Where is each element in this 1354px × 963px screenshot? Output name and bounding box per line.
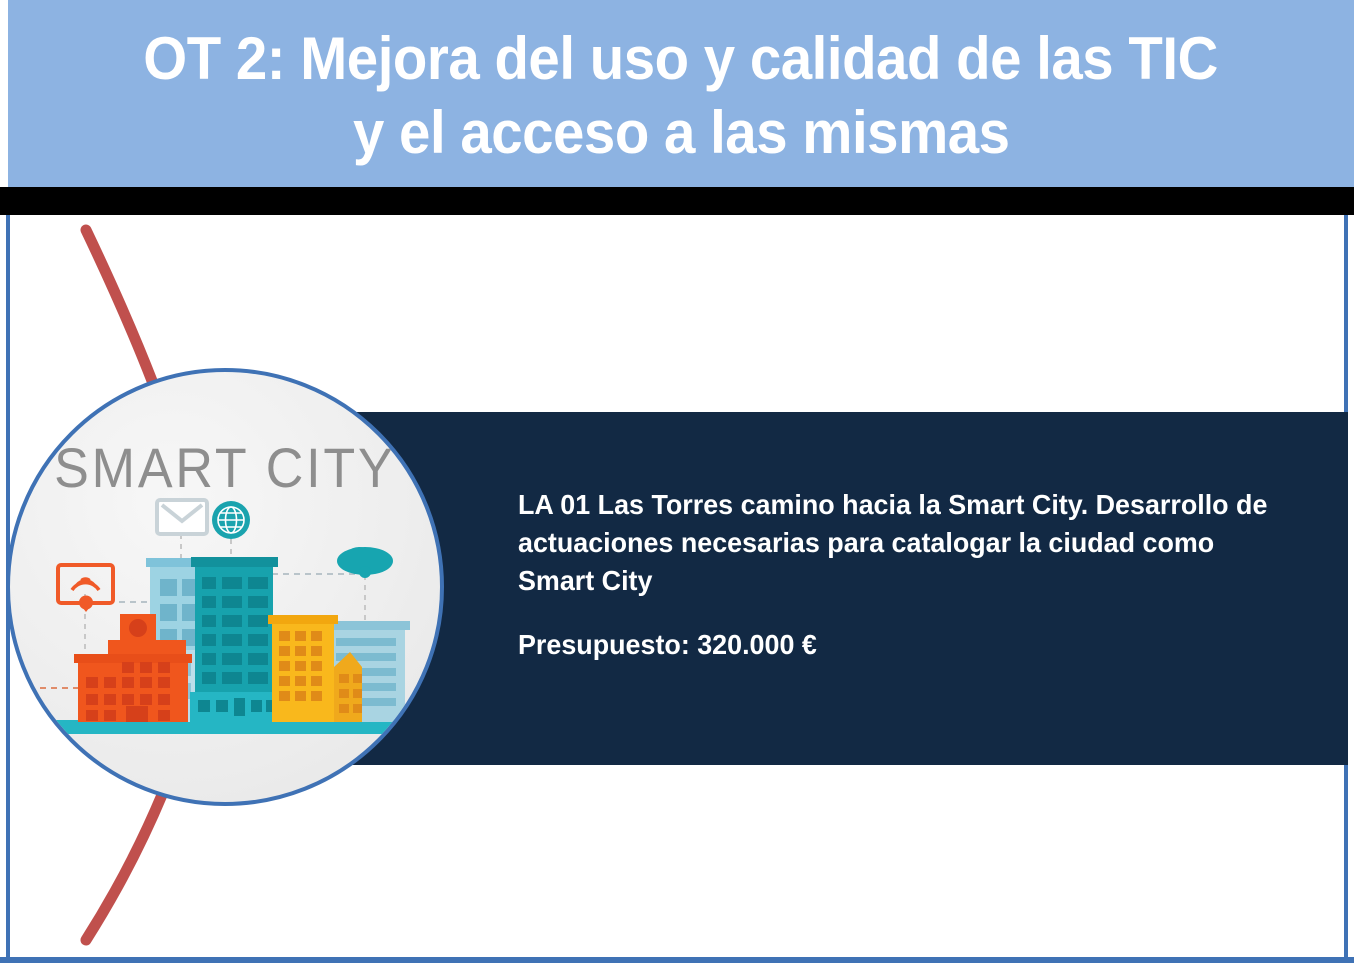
project-description: LA 01 Las Torres camino hacia la Smart C…: [518, 486, 1276, 600]
ground-strip: [10, 720, 440, 734]
smart-city-caption: SMART CITY: [54, 437, 395, 499]
wifi-icon: [58, 565, 113, 612]
smart-city-illustration: SMART CITY: [6, 368, 444, 806]
header-title-line-1: OT 2: Mejora del uso y calidad de las TI…: [144, 22, 1219, 96]
cloud-icon: [337, 547, 393, 578]
slide-header-banner: OT 2: Mejora del uso y calidad de las TI…: [8, 0, 1354, 187]
mail-icon: [157, 500, 207, 534]
project-info-text: LA 01 Las Torres camino hacia la Smart C…: [518, 486, 1308, 664]
teal-tower: [190, 557, 278, 722]
black-divider-band: [0, 187, 1354, 215]
project-budget: Presupuesto: 320.000 €: [518, 626, 1276, 664]
globe-icon: [212, 501, 250, 539]
bottom-blue-rule: [0, 957, 1354, 963]
header-title-line-2: y el acceso a las mismas: [353, 96, 1010, 170]
slide-canvas: OT 2: Mejora del uso y calidad de las TI…: [0, 0, 1354, 963]
